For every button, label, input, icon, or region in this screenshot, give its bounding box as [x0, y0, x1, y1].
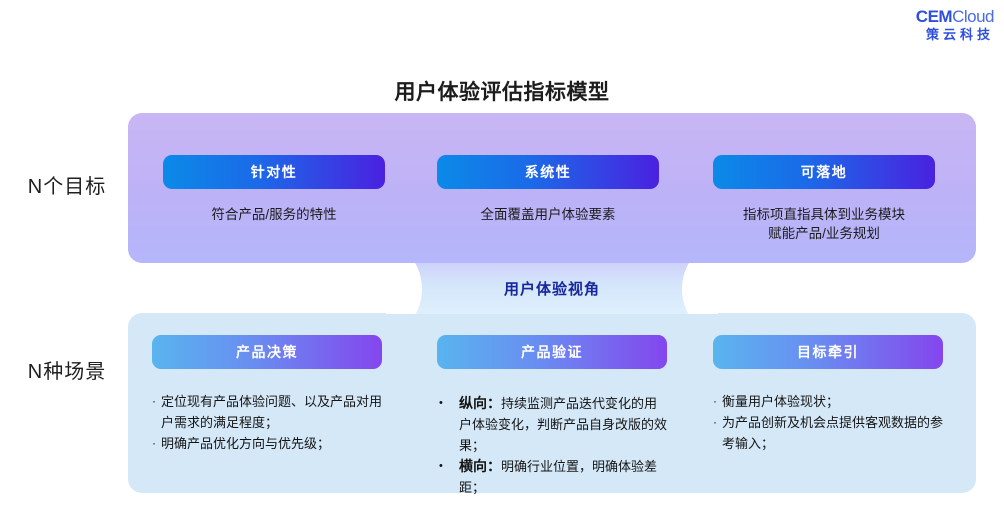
scene-column-2: 产品验证 • 纵向：持续监测产品迭代变化的用户体验变化，判断产品自身改版的效果；…	[437, 335, 667, 498]
brand-name-primary: CEM	[916, 7, 952, 26]
goal-pill-3[interactable]: 可落地	[713, 155, 935, 189]
list-item: • 横向：明确行业位置，明确体验差距；	[437, 456, 667, 498]
row-label-goals: N个目标	[8, 170, 126, 199]
bullet-dot-icon: ·	[713, 412, 722, 433]
bullet-emphasis: 纵向：	[459, 395, 501, 411]
bullet-text: 明确产品优化方向与优先级；	[161, 433, 382, 454]
list-item: · 明确产品优化方向与优先级；	[152, 433, 382, 454]
brand-logo: CEMCloud 策云科技	[916, 8, 994, 41]
brand-name-cn: 策云科技	[916, 28, 994, 41]
brand-name-secondary: Cloud	[952, 7, 994, 26]
connector-label: 用户体验视角	[386, 263, 718, 314]
list-item: · 定位现有产品体验问题、以及产品对用户需求的满足程度；	[152, 391, 382, 433]
bullet-dot-icon: •	[437, 393, 459, 414]
list-item: • 纵向：持续监测产品迭代变化的用户体验变化，判断产品自身改版的效果；	[437, 393, 667, 456]
bullet-dot-icon: ·	[152, 391, 161, 412]
scene-bullets-3: · 衡量用户体验现状； · 为产品创新及机会点提供客观数据的参考输入；	[713, 391, 943, 454]
bullet-text: 为产品创新及机会点提供客观数据的参考输入；	[722, 412, 943, 454]
list-item: · 衡量用户体验现状；	[713, 391, 943, 412]
goal-pill-1[interactable]: 针对性	[163, 155, 385, 189]
bullet-dot-icon: ·	[713, 391, 722, 412]
brand-logo-latin: CEMCloud	[916, 8, 994, 25]
goal-desc-1: 符合产品/服务的特性	[163, 205, 385, 224]
goal-desc-3-line2: 赋能产品/业务规划	[713, 224, 935, 243]
goal-column-3: 可落地 指标项直指具体到业务模块 赋能产品/业务规划	[713, 155, 935, 243]
page-title: 用户体验评估指标模型	[0, 76, 1004, 106]
goal-desc-2: 全面覆盖用户体验要素	[437, 205, 659, 224]
scene-bullets-2: • 纵向：持续监测产品迭代变化的用户体验变化，判断产品自身改版的效果； • 横向…	[437, 393, 667, 498]
bullet-dot-icon: ·	[152, 433, 161, 454]
goal-pill-2[interactable]: 系统性	[437, 155, 659, 189]
scene-pill-3[interactable]: 目标牵引	[713, 335, 943, 369]
scene-column-1: 产品决策 · 定位现有产品体验问题、以及产品对用户需求的满足程度； · 明确产品…	[152, 335, 382, 454]
goal-column-1: 针对性 符合产品/服务的特性	[163, 155, 385, 224]
bullet-text: 衡量用户体验现状；	[722, 391, 943, 412]
bullet-dot-icon: •	[437, 456, 459, 477]
list-item: · 为产品创新及机会点提供客观数据的参考输入；	[713, 412, 943, 454]
bullet-text: 横向：明确行业位置，明确体验差距；	[459, 456, 667, 498]
goal-column-2: 系统性 全面覆盖用户体验要素	[437, 155, 659, 224]
bullet-text: 定位现有产品体验问题、以及产品对用户需求的满足程度；	[161, 391, 382, 433]
goal-desc-3-line1: 指标项直指具体到业务模块	[713, 205, 935, 224]
scene-pill-2[interactable]: 产品验证	[437, 335, 667, 369]
connector-ribbon: 用户体验视角	[386, 263, 718, 314]
scene-bullets-1: · 定位现有产品体验问题、以及产品对用户需求的满足程度； · 明确产品优化方向与…	[152, 391, 382, 454]
bullet-text: 纵向：持续监测产品迭代变化的用户体验变化，判断产品自身改版的效果；	[459, 393, 667, 456]
row-label-scenes: N种场景	[8, 355, 126, 384]
scene-column-3: 目标牵引 · 衡量用户体验现状； · 为产品创新及机会点提供客观数据的参考输入；	[713, 335, 943, 454]
bullet-emphasis: 横向：	[459, 458, 501, 474]
scene-pill-1[interactable]: 产品决策	[152, 335, 382, 369]
goal-desc-3: 指标项直指具体到业务模块 赋能产品/业务规划	[713, 205, 935, 243]
